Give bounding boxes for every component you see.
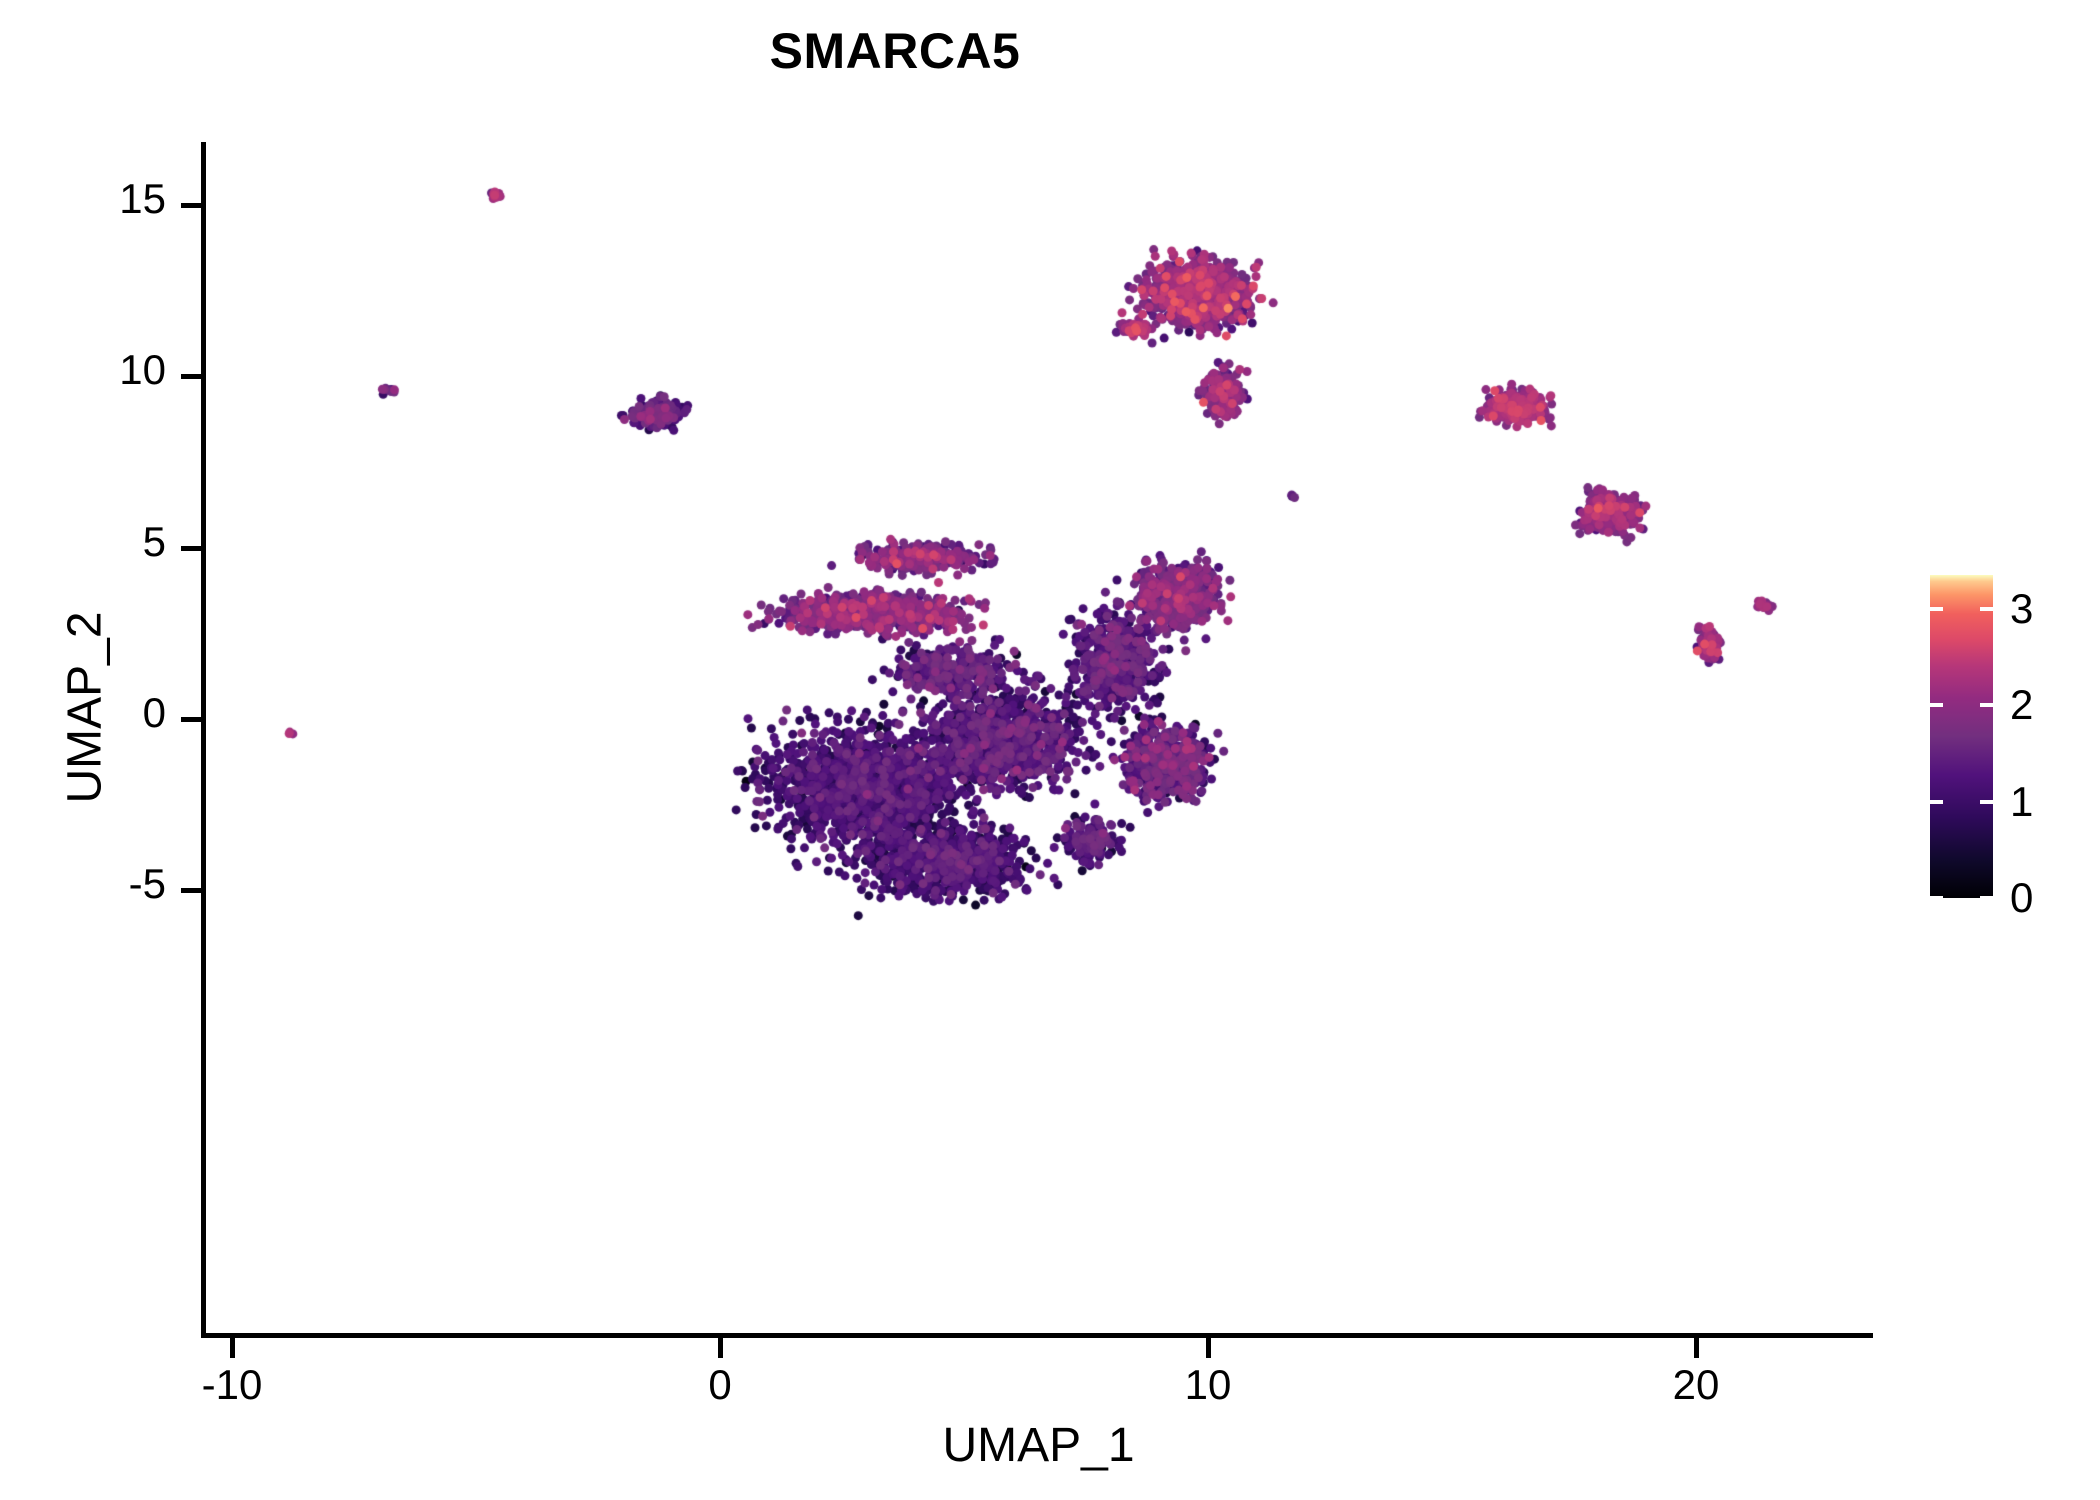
y-tick-mark — [181, 888, 201, 893]
x-axis-title: UMAP_1 — [205, 1418, 1872, 1473]
y-tick-mark — [181, 717, 201, 722]
y-axis-title: UMAP_2 — [58, 358, 113, 1058]
y-tick-mark — [181, 374, 201, 379]
x-tick-mark — [230, 1338, 235, 1358]
colorbar-tick-mark — [1980, 800, 1993, 804]
y-tick-label: 15 — [0, 178, 166, 220]
colorbar-tick-label: 3 — [2010, 588, 2033, 630]
page-title: SMARCA5 — [0, 22, 1790, 80]
colorbar-tick-mark — [1930, 703, 1943, 707]
x-tick-label: 10 — [1108, 1364, 1308, 1406]
colorbar-tick-mark — [1930, 896, 1943, 900]
colorbar-tick-mark — [1980, 703, 1993, 707]
x-tick-label: 20 — [1596, 1364, 1796, 1406]
colorbar-tick-mark — [1930, 800, 1943, 804]
colorbar-legend: 0123 — [1930, 575, 2090, 905]
scatter-points-layer — [205, 142, 1872, 1336]
x-tick-mark — [1206, 1338, 1211, 1358]
colorbar-tick-mark — [1980, 896, 1993, 900]
x-tick-mark — [718, 1338, 723, 1358]
scatter-plot-panel — [205, 142, 1872, 1336]
colorbar-tick-mark — [1930, 607, 1943, 611]
x-tick-label: -10 — [132, 1364, 332, 1406]
colorbar-tick-mark — [1980, 607, 1993, 611]
y-tick-mark — [181, 203, 201, 208]
x-axis-line — [203, 1333, 1873, 1338]
colorbar-tick-label: 2 — [2010, 684, 2033, 726]
y-axis-line — [201, 142, 206, 1338]
x-tick-mark — [1694, 1338, 1699, 1358]
y-tick-mark — [181, 546, 201, 551]
chart-root: SMARCA5 -5051015 -1001020 UMAP_1 UMAP_2 … — [0, 0, 2100, 1500]
x-tick-label: 0 — [620, 1364, 820, 1406]
colorbar-tick-label: 0 — [2010, 877, 2033, 919]
colorbar-tick-label: 1 — [2010, 781, 2033, 823]
colorbar-gradient — [1930, 575, 1993, 898]
